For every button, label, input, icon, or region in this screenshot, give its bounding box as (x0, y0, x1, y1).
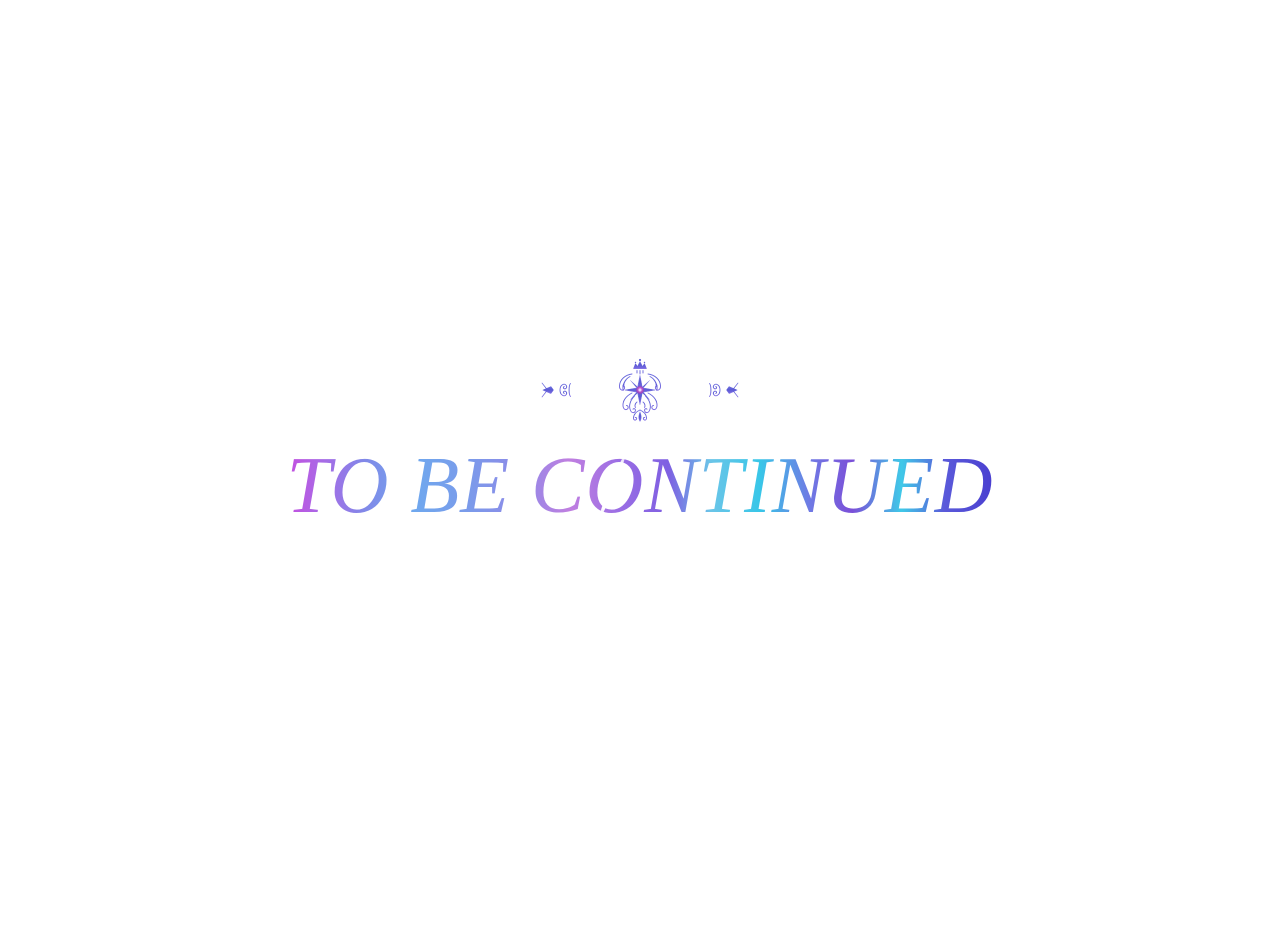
left-spiral-scroll-icon (560, 384, 574, 397)
crown-icon (634, 359, 647, 374)
title-artwork: TO BE CONTINUED (290, 430, 990, 540)
left-arrow-tip-icon (542, 383, 558, 397)
center-gem-icon (636, 386, 643, 393)
divider-container (0, 352, 1280, 428)
scene-canvas: TO BE CONTINUED (0, 0, 1280, 940)
compass-star-rosette-icon (625, 376, 655, 405)
title-text: TO BE CONTINUED (287, 442, 994, 530)
title-container: TO BE CONTINUED (0, 430, 1280, 540)
center-medallion (619, 359, 660, 422)
ornamental-flourish-divider (540, 352, 740, 428)
right-spiral-scroll-icon (706, 384, 720, 397)
right-arrow-tip-icon (722, 383, 738, 397)
